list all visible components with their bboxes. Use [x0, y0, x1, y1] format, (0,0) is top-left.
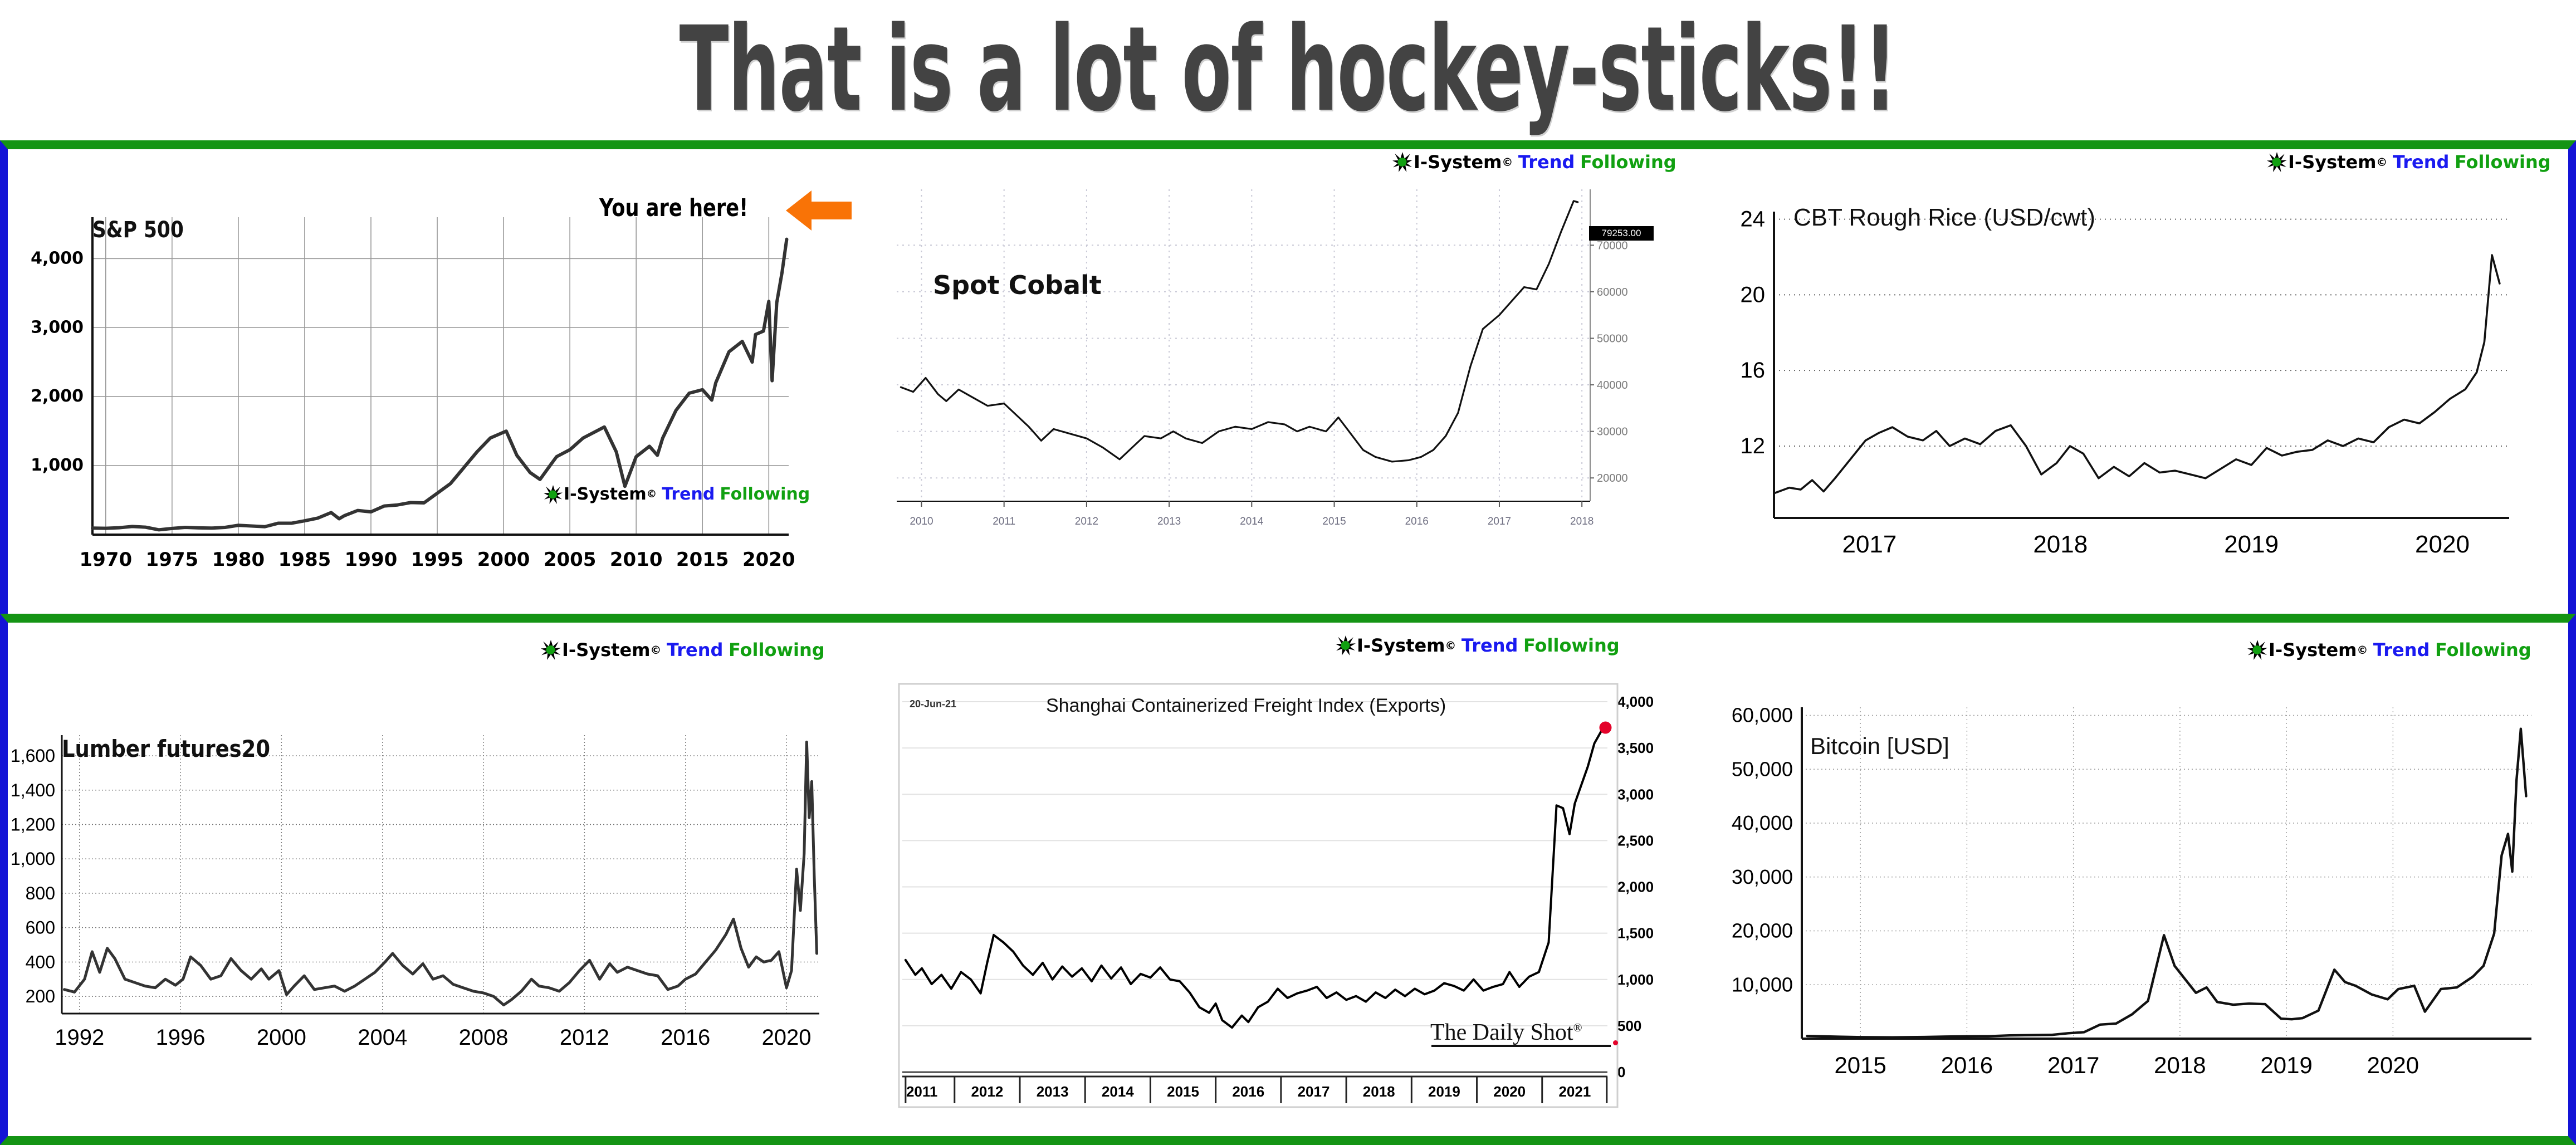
svg-text:200: 200 [26, 986, 55, 1006]
svg-text:60000: 60000 [1597, 286, 1628, 299]
bitcoin-chart-svg: 10,00020,00030,00040,00050,00060,0002015… [1718, 624, 2568, 1136]
lumber-chart-title: Lumber futures20 [62, 735, 270, 762]
svg-text:1,600: 1,600 [11, 746, 55, 766]
svg-text:2012: 2012 [1075, 516, 1098, 527]
svg-text:1,400: 1,400 [11, 780, 55, 800]
svg-text:2020: 2020 [762, 1025, 812, 1050]
svg-text:3,000: 3,000 [1617, 786, 1654, 803]
svg-text:2010: 2010 [910, 516, 933, 527]
svg-text:1,500: 1,500 [1617, 925, 1654, 942]
svg-text:2008: 2008 [459, 1025, 509, 1050]
svg-text:800: 800 [26, 883, 55, 903]
svg-text:2,000: 2,000 [31, 386, 84, 406]
rice-chart-title: CBT Rough Rice (USD/cwt) [1793, 204, 2095, 232]
svg-text:2010: 2010 [610, 549, 663, 571]
brand-trend-rice: Trend [2393, 151, 2449, 173]
svg-text:2018: 2018 [1363, 1083, 1395, 1100]
svg-text:2019: 2019 [2224, 531, 2279, 558]
svg-text:2015: 2015 [676, 549, 729, 571]
svg-text:2019: 2019 [2260, 1052, 2312, 1078]
svg-text:1,200: 1,200 [11, 814, 55, 834]
daily-shot-registered: ® [1573, 1021, 1582, 1034]
orange-left-arrow-icon [786, 189, 853, 232]
svg-text:2017: 2017 [1298, 1083, 1330, 1100]
svg-text:20,000: 20,000 [1732, 919, 1793, 942]
svg-text:50000: 50000 [1597, 332, 1628, 345]
infographic-page: That is a lot of hockey-sticks!! 1,0002,… [0, 0, 2576, 1145]
brand-trend-scfi: Trend [1461, 635, 1518, 656]
scfi-chart-title: Shanghai Containerized Freight Index (Ex… [1046, 695, 1446, 717]
svg-text:2021: 2021 [1558, 1083, 1591, 1100]
brand-logo-lumber: I-System© Trend Following [541, 639, 825, 660]
svg-text:2011: 2011 [906, 1083, 937, 1100]
starburst-icon [2247, 640, 2267, 660]
svg-text:2011: 2011 [993, 516, 1015, 527]
chart-panel-sp500[interactable]: 1,0002,0003,0004,00019701975198019851990… [9, 150, 861, 613]
svg-text:2016: 2016 [1941, 1052, 1993, 1078]
svg-text:60,000: 60,000 [1732, 704, 1793, 727]
svg-text:1,000: 1,000 [11, 849, 55, 869]
svg-text:2018: 2018 [1570, 516, 1593, 527]
brand-name-lumber: I-System [562, 639, 650, 660]
svg-text:1,000: 1,000 [1617, 971, 1654, 988]
daily-shot-dot [1613, 1040, 1618, 1045]
svg-text:1980: 1980 [212, 549, 265, 571]
brand-logo-bitcoin: I-System© Trend Following [2247, 639, 2531, 660]
cobalt-last-price-badge: 79253.00 [1589, 226, 1654, 241]
brand-name-cobalt: I-System [1414, 151, 1502, 173]
svg-text:2020: 2020 [2415, 531, 2470, 558]
starburst-icon [541, 640, 561, 660]
svg-text:12: 12 [1741, 434, 1766, 458]
brand-copyright-rice: © [2376, 156, 2387, 169]
starburst-icon [1392, 152, 1412, 172]
svg-text:2012: 2012 [560, 1025, 609, 1050]
svg-text:2015: 2015 [1167, 1083, 1199, 1100]
brand-name-rice: I-System [2288, 151, 2376, 173]
brand-trend-sp500: Trend [662, 485, 715, 504]
daily-shot-underline [1431, 1045, 1611, 1047]
page-title-bar: That is a lot of hockey-sticks!! [0, 0, 2576, 139]
page-title: That is a lot of hockey-sticks!! [680, 11, 1896, 128]
svg-text:0: 0 [1617, 1064, 1625, 1080]
lumber-chart-svg: 2004006008001,0001,2001,4001,60019921996… [9, 624, 861, 1136]
brand-copyright-scfi: © [1445, 639, 1456, 652]
bitcoin-chart-title: Bitcoin [USD] [1810, 733, 1949, 760]
svg-text:24: 24 [1741, 207, 1766, 232]
brand-following-scfi: Following [1523, 635, 1620, 656]
svg-text:16: 16 [1741, 358, 1766, 383]
brand-name-bitcoin: I-System [2269, 639, 2357, 660]
brand-logo-sp500: I-System© Trend Following [544, 485, 810, 504]
brand-logo-cobalt: I-System© Trend Following [1392, 151, 1676, 173]
daily-shot-watermark: The Daily Shot® [1430, 1019, 1582, 1046]
svg-text:1995: 1995 [411, 549, 464, 571]
svg-text:10,000: 10,000 [1732, 973, 1793, 996]
svg-text:2012: 2012 [971, 1083, 1003, 1100]
brand-following-rice: Following [2455, 151, 2551, 173]
svg-text:2017: 2017 [2047, 1052, 2099, 1078]
svg-text:1985: 1985 [278, 549, 331, 571]
svg-text:40,000: 40,000 [1732, 811, 1793, 834]
svg-text:2016: 2016 [661, 1025, 710, 1050]
chart-panel-scfi[interactable]: 05001,0001,5002,0002,5003,0003,5004,0002… [896, 624, 1692, 1136]
brand-copyright-lumber: © [650, 644, 661, 657]
starburst-icon [1336, 635, 1356, 655]
svg-text:20: 20 [1741, 282, 1766, 307]
starburst-icon [544, 485, 563, 504]
svg-text:2018: 2018 [2154, 1052, 2206, 1078]
starburst-icon [2267, 152, 2287, 172]
svg-text:1996: 1996 [156, 1025, 206, 1050]
chart-panel-cobalt[interactable]: 2000030000400005000060000700002010201120… [891, 150, 1688, 613]
brand-following-lumber: Following [729, 639, 825, 660]
brand-copyright-bitcoin: © [2357, 644, 2368, 657]
brand-following-cobalt: Following [1580, 151, 1676, 173]
svg-text:50,000: 50,000 [1732, 757, 1793, 780]
svg-text:2,500: 2,500 [1617, 832, 1654, 849]
scfi-datestamp: 20-Jun-21 [910, 698, 956, 710]
svg-text:400: 400 [26, 952, 55, 972]
svg-text:30000: 30000 [1597, 426, 1628, 438]
svg-text:1970: 1970 [79, 549, 132, 571]
svg-text:70000: 70000 [1597, 239, 1628, 252]
svg-text:20000: 20000 [1597, 472, 1628, 485]
svg-text:40000: 40000 [1597, 379, 1628, 392]
svg-text:600: 600 [26, 918, 55, 938]
svg-text:2017: 2017 [1488, 516, 1511, 527]
brand-copyright-cobalt: © [1502, 156, 1513, 169]
brand-logo-scfi: I-System© Trend Following [1336, 635, 1620, 656]
svg-text:500: 500 [1617, 1017, 1641, 1034]
svg-text:2013: 2013 [1157, 516, 1181, 527]
svg-text:2005: 2005 [544, 549, 597, 571]
svg-text:4,000: 4,000 [31, 248, 84, 268]
svg-text:2013: 2013 [1037, 1083, 1069, 1100]
brand-following-bitcoin: Following [2435, 639, 2531, 660]
brand-trend-cobalt: Trend [1518, 151, 1575, 173]
svg-text:2017: 2017 [1842, 531, 1896, 558]
svg-text:2,000: 2,000 [1617, 879, 1654, 896]
svg-text:2000: 2000 [257, 1025, 306, 1050]
brand-trend-bitcoin: Trend [2373, 639, 2430, 660]
svg-text:3,500: 3,500 [1617, 740, 1654, 756]
daily-shot-text: The Daily Shot [1430, 1020, 1573, 1045]
svg-text:1992: 1992 [55, 1025, 104, 1050]
chart-panel-rice[interactable]: 121620242017201820192020 CBT Rough Rice … [1718, 150, 2568, 613]
svg-text:2000: 2000 [477, 549, 530, 571]
svg-text:2015: 2015 [1834, 1052, 1886, 1078]
svg-text:2018: 2018 [2033, 531, 2088, 558]
cobalt-chart-svg: 2000030000400005000060000700002010201120… [891, 150, 1688, 613]
brand-name-sp500: I-System [564, 485, 647, 504]
svg-text:1,000: 1,000 [31, 456, 84, 475]
svg-text:3,000: 3,000 [31, 317, 84, 337]
svg-text:2014: 2014 [1102, 1083, 1134, 1100]
brand-following-sp500: Following [720, 485, 810, 504]
brand-name-scfi: I-System [1357, 635, 1445, 656]
chart-panel-lumber[interactable]: 2004006008001,0001,2001,4001,60019921996… [9, 624, 861, 1136]
chart-panel-bitcoin[interactable]: 10,00020,00030,00040,00050,00060,0002015… [1718, 624, 2568, 1136]
svg-text:2016: 2016 [1232, 1083, 1264, 1100]
brand-copyright-sp500: © [647, 488, 657, 500]
svg-text:30,000: 30,000 [1732, 865, 1793, 888]
svg-text:2015: 2015 [1322, 516, 1346, 527]
svg-text:2004: 2004 [358, 1025, 407, 1050]
svg-text:1975: 1975 [146, 549, 199, 571]
brand-trend-lumber: Trend [667, 639, 723, 660]
svg-text:2020: 2020 [2367, 1052, 2419, 1078]
svg-text:2020: 2020 [1493, 1083, 1526, 1100]
svg-text:2019: 2019 [1428, 1083, 1460, 1100]
svg-text:1990: 1990 [345, 549, 398, 571]
svg-text:2020: 2020 [742, 549, 795, 571]
cobalt-chart-title: Spot Cobalt [933, 270, 1102, 300]
svg-text:2016: 2016 [1405, 516, 1429, 527]
brand-logo-rice: I-System© Trend Following [2267, 151, 2551, 173]
sp500-chart-title: S&P 500 [92, 217, 184, 243]
svg-text:4,000: 4,000 [1617, 693, 1654, 710]
svg-text:2014: 2014 [1240, 516, 1264, 527]
you-are-here-label: You are here! [599, 194, 748, 222]
